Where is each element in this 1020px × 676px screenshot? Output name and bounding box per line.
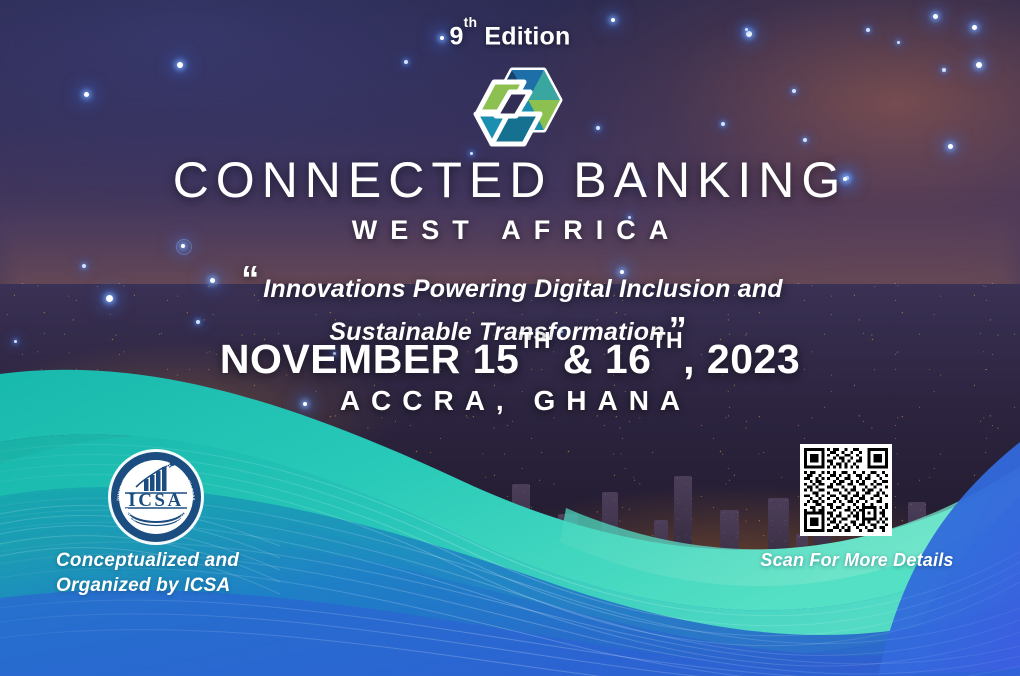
organizer-credit: Conceptualized and Organized by ICSA [56, 548, 239, 599]
date-month: NOVEMBER [220, 336, 473, 382]
date-separator: & [551, 336, 605, 382]
qr-code-icon[interactable] [800, 444, 892, 536]
edition-ordinal: th [464, 14, 478, 30]
event-date: NOVEMBER 15TH & 16TH, 2023 [0, 336, 1020, 383]
event-location: ACCRA, GHANA [0, 385, 1020, 417]
event-banner: 9th Edition [0, 0, 1020, 676]
organizer-line-2: Organized by ICSA [56, 573, 239, 598]
date-day-1: 15 [473, 336, 520, 382]
organizer-line-1: Conceptualized and [56, 548, 239, 573]
title-main: CONNECTED BANKING [0, 155, 1020, 205]
tagline-line-1: Innovations Powering Digital Inclusion a… [263, 275, 783, 303]
connected-banking-logo-icon [454, 62, 566, 150]
date-day-1-ordinal: TH [519, 327, 551, 353]
edition-word: Edition [477, 22, 570, 50]
date-day-2: 16 [605, 336, 652, 382]
event-title: CONNECTED BANKING WEST AFRICA [0, 155, 1020, 244]
title-sub: WEST AFRICA [0, 217, 1020, 244]
edition-label: 9th Edition [0, 22, 1020, 51]
date-year: , 2023 [683, 336, 800, 382]
qr-caption: Scan For More Details [737, 550, 977, 571]
edition-number: 9 [450, 22, 464, 50]
quote-open: “ [237, 258, 263, 299]
icsa-badge-logo-icon: ICSA International Center for Strategic … [106, 447, 206, 547]
date-day-2-ordinal: TH [651, 327, 683, 353]
